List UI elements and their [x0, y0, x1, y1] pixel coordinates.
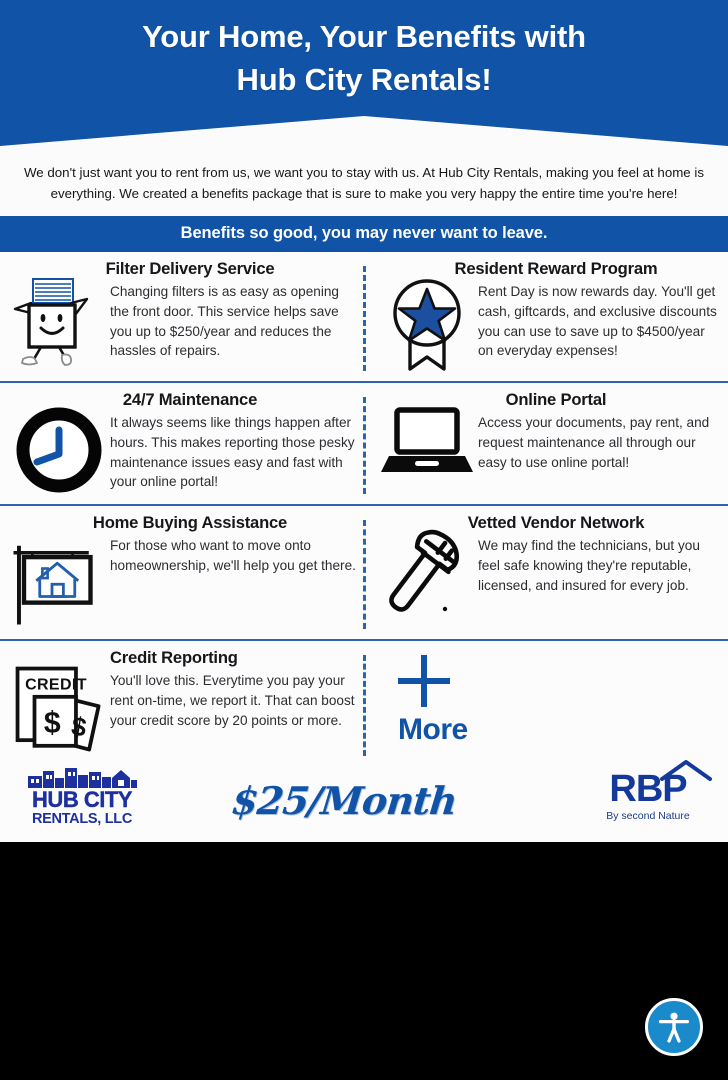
benefit-item-home-buying-assistance: Home Buying Assistance For those who wan… [0, 506, 364, 639]
credit-document-dollars-icon: CREDIT $ $ [10, 648, 108, 758]
page-title-line-1: Your Home, Your Benefits with [24, 16, 704, 59]
benefit-title: Online Portal [392, 390, 720, 410]
benefit-row: Home Buying Assistance For those who wan… [0, 506, 728, 641]
page-root: Your Home, Your Benefits with Hub City R… [0, 0, 728, 1080]
svg-text:$: $ [44, 707, 61, 740]
benefit-title: Credit Reporting [110, 648, 356, 668]
more-benefits-block: More [364, 641, 728, 766]
rbp-subtitle: By second Nature [590, 810, 706, 822]
rbp-logo: RBP By second Nature [590, 770, 706, 822]
footer-logos: HUB CITY RENTALS, LLC $25/Month RBP By s… [0, 766, 728, 842]
benefit-text: Home Buying Assistance For those who wan… [108, 513, 356, 576]
benefit-text: 24/7 Maintenance It always seems like th… [108, 390, 356, 492]
benefit-description: It always seems like things happen after… [110, 413, 356, 492]
more-label: More [398, 713, 468, 747]
benefit-text: Filter Delivery Service Changing filters… [108, 259, 356, 361]
benefit-description: You'll love this. Everytime you pay your… [110, 671, 356, 731]
benefit-item-resident-reward-program: Resident Reward Program Rent Day is now … [364, 252, 728, 381]
benefit-description: Access your documents, pay rent, and req… [478, 413, 720, 473]
header-banner: Your Home, Your Benefits with Hub City R… [0, 0, 728, 150]
hub-logo-line-2: RENTALS, LLC [16, 812, 148, 827]
accessibility-widget-button[interactable] [645, 998, 703, 1056]
sub-banner: Benefits so good, you may never want to … [0, 216, 728, 252]
intro-paragraph: We don't just want you to rent from us, … [12, 162, 716, 204]
benefit-text: Online Portal Access your documents, pay… [476, 390, 720, 472]
plus-icon [398, 655, 450, 707]
benefit-text: Vetted Vendor Network We may find the te… [476, 513, 720, 595]
benefit-text: Credit Reporting You'll love this. Every… [108, 648, 356, 730]
header-chevron-notch [0, 116, 728, 150]
accessibility-person-icon [656, 1009, 692, 1045]
benefit-item-vetted-vendor-network: Vetted Vendor Network We may find the te… [364, 506, 728, 639]
hub-city-rentals-logo: HUB CITY RENTALS, LLC [16, 764, 148, 827]
intro-section: We don't just want you to rent from us, … [0, 150, 728, 216]
benefit-description: Changing filters is as easy as opening t… [110, 282, 356, 361]
benefit-title: Filter Delivery Service [24, 259, 356, 279]
city-skyline-icon [26, 764, 138, 788]
benefit-title: Resident Reward Program [392, 259, 720, 279]
svg-text:CREDIT: CREDIT [25, 676, 87, 693]
benefit-title: Home Buying Assistance [24, 513, 356, 533]
benefit-text: Resident Reward Program Rent Day is now … [476, 259, 720, 361]
benefit-description: We may find the technicians, but you fee… [478, 536, 720, 596]
benefits-grid: Filter Delivery Service Changing filters… [0, 252, 728, 766]
rbp-mark: RBP [590, 770, 706, 808]
benefit-row: CREDIT $ $ Credit Reporting You'll love … [0, 641, 728, 766]
benefit-item-credit-reporting: CREDIT $ $ Credit Reporting You'll love … [0, 641, 364, 766]
page-title: Your Home, Your Benefits with Hub City R… [0, 10, 728, 102]
benefit-title: Vetted Vendor Network [392, 513, 720, 533]
benefit-item-24-7-maintenance: 24/7 Maintenance It always seems like th… [0, 383, 364, 504]
page-title-line-2: Hub City Rentals! [24, 59, 704, 102]
price-label: $25/Month [230, 778, 459, 823]
benefit-row: Filter Delivery Service Changing filters… [0, 252, 728, 383]
benefit-item-filter-delivery-service: Filter Delivery Service Changing filters… [0, 252, 364, 381]
benefit-row: 24/7 Maintenance It always seems like th… [0, 383, 728, 506]
benefit-item-online-portal: Online Portal Access your documents, pay… [364, 383, 728, 504]
roof-icon [660, 759, 712, 781]
hub-logo-line-1: HUB CITY [16, 789, 148, 811]
benefit-title: 24/7 Maintenance [24, 390, 356, 410]
benefit-description: Rent Day is now rewards day. You'll get … [478, 282, 720, 361]
benefit-description: For those who want to move onto homeowne… [110, 536, 356, 576]
